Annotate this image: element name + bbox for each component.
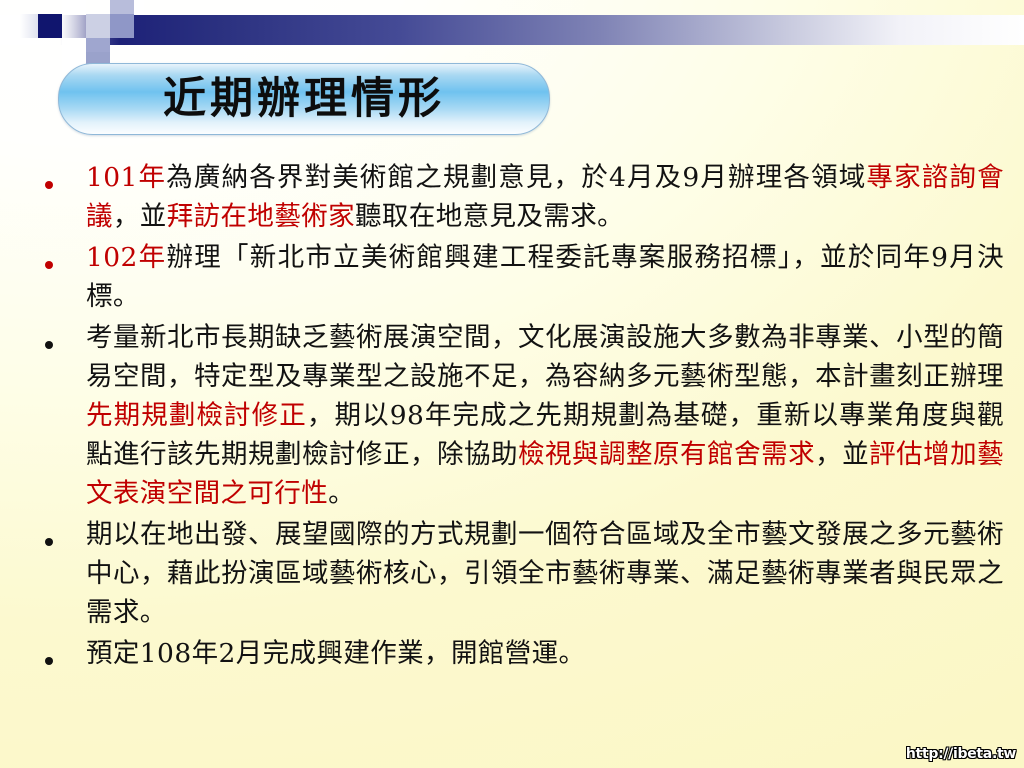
header-square-navy (38, 14, 62, 38)
bullet-item: 102年辦理「新北市立美術館興建工程委託專案服務招標」，並於同年9月決標。 (34, 238, 1004, 316)
bullet-marker (34, 318, 86, 353)
text-run-highlight: 拜訪在地藝術家 (167, 201, 355, 232)
bullet-text: 期以在地出發、展望國際的方式規劃一個符合區域及全市藝文發展之多元藝術中心，藉此扮… (86, 515, 1004, 632)
text-run-normal: 。 (328, 478, 355, 509)
text-run-normal: 為廣納各界對美術館之規劃意見，於4月及9月辦理各領域 (166, 162, 866, 193)
header-square-fade (20, 14, 38, 38)
text-run-highlight: 檢視與調整原有館舍需求 (518, 439, 815, 470)
page-title: 近期辦理情形 (163, 78, 445, 121)
bullet-marker (34, 158, 86, 193)
header-gradient-bar (0, 15, 1024, 45)
bullet-dot-icon (45, 341, 53, 349)
header-square-white-notch (134, 0, 144, 14)
slide-title-plaque: 近期辦理情形 (58, 63, 550, 135)
text-run-normal: 考量新北市長期缺乏藝術展演空間，文化展演設施大多數為非專業、小型的簡易空間，特定… (86, 322, 1004, 392)
header-square-white-top (62, 0, 86, 14)
text-run-highlight: 102年 (86, 242, 166, 273)
text-run-normal: 預定108年2月完成興建作業，開館營運。 (86, 638, 585, 669)
slide-body: 101年為廣納各界對美術館之規劃意見，於4月及9月辦理各領域專家諮詢會議，並拜訪… (34, 158, 1004, 675)
text-run-normal: 聽取在地意見及需求。 (355, 201, 624, 232)
bullet-text: 考量新北市長期缺乏藝術展演空間，文化展演設施大多數為非專業、小型的簡易空間，特定… (86, 318, 1004, 513)
bullet-text: 102年辦理「新北市立美術館興建工程委託專案服務招標」，並於同年9月決標。 (86, 238, 1004, 316)
text-run-highlight: 101年 (86, 162, 166, 193)
bullet-item: 預定108年2月完成興建作業，開館營運。 (34, 634, 1004, 673)
header-square-paleblue (110, 0, 134, 14)
watermark-url: http://ibeta.tw (906, 746, 1016, 762)
bullet-item: 期以在地出發、展望國際的方式規劃一個符合區域及全市藝文發展之多元藝術中心，藉此扮… (34, 515, 1004, 632)
bullet-text: 預定108年2月完成興建作業，開館營運。 (86, 634, 1004, 673)
bullet-marker (34, 238, 86, 273)
bullet-dot-icon (45, 657, 53, 665)
header-decoration (0, 0, 1024, 62)
bullet-item: 101年為廣納各界對美術館之規劃意見，於4月及9月辦理各領域專家諮詢會議，並拜訪… (34, 158, 1004, 236)
header-square-lightblue (86, 14, 110, 38)
bullet-marker (34, 634, 86, 669)
text-run-normal: 期以在地出發、展望國際的方式規劃一個符合區域及全市藝文發展之多元藝術中心，藉此扮… (86, 519, 1004, 628)
bullet-marker (34, 515, 86, 550)
presentation-slide: 近期辦理情形 101年為廣納各界對美術館之規劃意見，於4月及9月辦理各領域專家諮… (0, 0, 1024, 768)
bullet-text: 101年為廣納各界對美術館之規劃意見，於4月及9月辦理各領域專家諮詢會議，並拜訪… (86, 158, 1004, 236)
bullet-dot-icon (45, 261, 53, 269)
text-run-normal: ，並 (113, 201, 167, 232)
header-square-steelblue (110, 14, 134, 38)
bullet-item: 考量新北市長期缺乏藝術展演空間，文化展演設施大多數為非專業、小型的簡易空間，特定… (34, 318, 1004, 513)
bullet-dot-icon (45, 181, 53, 189)
text-run-normal: ，並 (815, 439, 869, 470)
text-run-normal: 辦理「新北市立美術館興建工程委託專案服務招標」，並於同年9月決標。 (86, 242, 1004, 312)
text-run-highlight: 先期規劃檢討修正 (86, 400, 307, 431)
bullet-dot-icon (45, 538, 53, 546)
